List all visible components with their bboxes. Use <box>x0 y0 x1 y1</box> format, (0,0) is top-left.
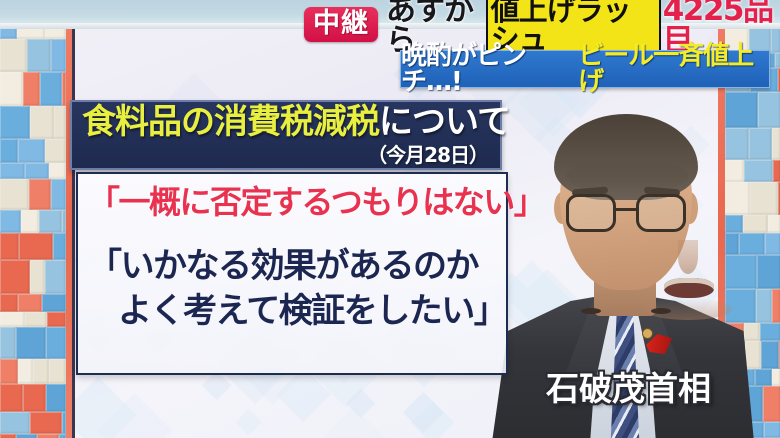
lens-right <box>636 194 686 232</box>
quote-secondary: 「いかなる効果があるのか よく考えて検証をしたい」 <box>88 244 506 334</box>
quote-primary: 「一概に否定するつもりはない」 <box>88 186 544 218</box>
pin-badge-dot <box>642 328 653 339</box>
topic-title-line: 食料品の消費税減税について <box>82 105 510 139</box>
top-banner: 中継 あすから 値上げラッシュ 4225品目 晩酌がピンチ…! ビール一斉値上げ <box>0 0 780 92</box>
mouth <box>664 278 714 298</box>
nose <box>678 240 698 274</box>
eye-left <box>581 308 601 314</box>
sub-headline-white: 晩酌がピンチ…! <box>401 43 578 95</box>
live-badge-label: 中継 <box>313 9 369 38</box>
live-badge: 中継 <box>304 7 378 42</box>
speaker-name-caption: 石破茂首相 <box>546 372 711 405</box>
topic-title-plate: 食料品の消費税減税について （今月28日） <box>70 100 502 170</box>
eyeglasses-icon <box>560 194 692 234</box>
glasses-bridge <box>616 208 636 211</box>
sub-headline-bar: 晩酌がピンチ…! ビール一斉値上げ <box>400 50 770 88</box>
sub-headline-yellow: ビール一斉値上げ <box>578 43 769 95</box>
broadcast-frame: 中継 あすから 値上げラッシュ 4225品目 晩酌がピンチ…! ビール一斉値上げ… <box>0 0 780 438</box>
topic-date: （今月28日） <box>367 145 488 165</box>
hair <box>554 114 698 200</box>
quote-secondary-line-1: 「いかなる効果があるのか <box>88 246 478 286</box>
lens-left <box>566 194 616 232</box>
topic-title-highlight: 食料品の消費税減税 <box>82 102 379 142</box>
quote-secondary-line-2: よく考えて検証をしたい」 <box>88 289 506 334</box>
topic-title-suffix: について <box>379 102 510 142</box>
red-feather-pin-icon <box>640 328 674 358</box>
eye-right <box>651 308 671 314</box>
quote-panel: 「一概に否定するつもりはない」 「いかなる効果があるのか よく考えて検証をしたい… <box>76 172 508 375</box>
